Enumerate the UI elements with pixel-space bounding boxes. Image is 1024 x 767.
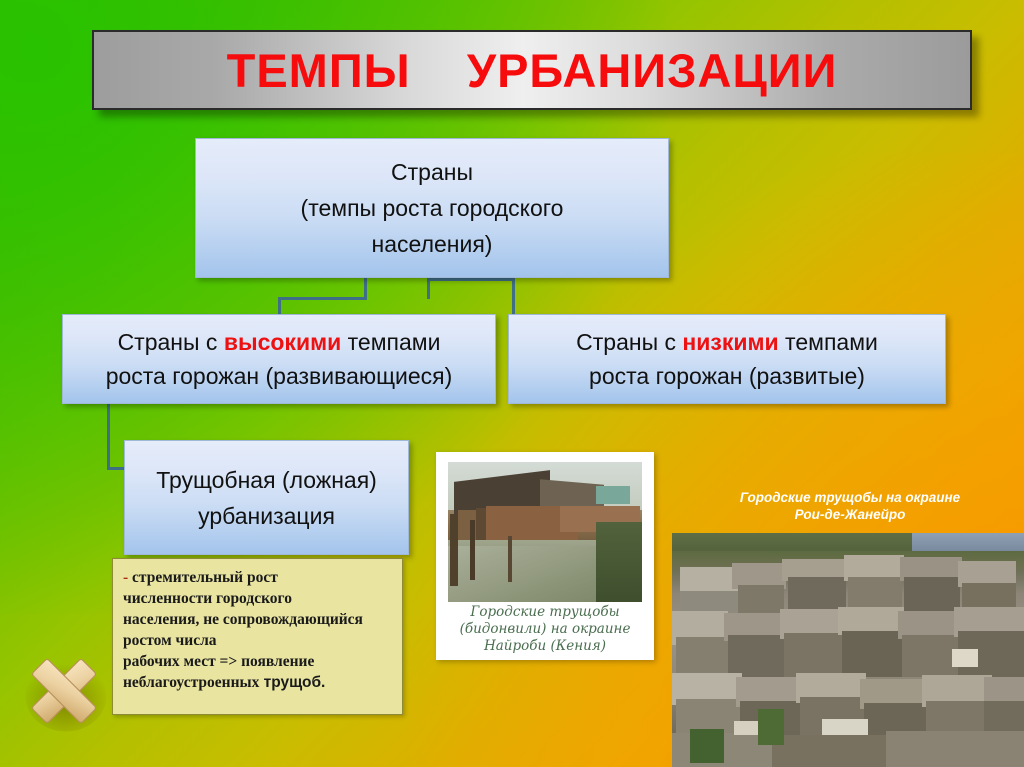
node-high-growth[interactable]: Страны с высокими темпами роста горожан …	[62, 314, 496, 404]
slide-canvas: ТЕМПЫ УРБАНИЗАЦИИ Страны (темпы роста го…	[0, 0, 1024, 767]
node-low-text-c: темпами	[779, 329, 878, 355]
node-high-keyword: высокими	[224, 329, 341, 355]
definition-line-2: численности городского	[123, 588, 396, 609]
node-low-keyword: низкими	[682, 329, 778, 355]
definition-line-6: неблагоустроенных трущоб.	[123, 672, 396, 693]
connector-left-down	[278, 297, 281, 315]
node-high-text-c: темпами	[341, 329, 440, 355]
connector-slum-down	[107, 404, 110, 470]
definition-line-1: - стремительный рост	[123, 567, 396, 588]
node-root-line2: (темпы роста городского	[196, 190, 668, 226]
node-slum-urbanization[interactable]: Трущобная (ложная) урбанизация	[124, 440, 409, 555]
nairobi-caption-line-3: Найроби (Кения)	[436, 638, 654, 655]
cross-icon	[18, 645, 110, 737]
definition-callout: - стремительный рост численности городск…	[112, 558, 403, 715]
photo-rio-caption: Городские трущобы на окраине Рои-де-Жане…	[700, 489, 1000, 523]
photo-card-nairobi: Городские трущобы (бидонвили) на окраине…	[436, 452, 654, 660]
page-title: ТЕМПЫ УРБАНИЗАЦИИ	[227, 47, 838, 94]
node-root-line3: населения)	[196, 226, 668, 262]
node-high-line1: Страны с высокими темпами	[63, 325, 495, 359]
nairobi-caption-line-2: (бидонвили) на окраине	[436, 621, 654, 638]
photo-nairobi-slums	[448, 462, 642, 602]
node-root-line1: Страны	[196, 154, 668, 190]
rio-caption-line-2: Рои-де-Жанейро	[700, 506, 1000, 523]
definition-line-5: рабочих мест => появление	[123, 651, 396, 672]
rio-caption-line-1: Городские трущобы на окраине	[700, 489, 1000, 506]
photo-rio-favela	[672, 533, 1024, 767]
connector-root-right-stub	[427, 278, 430, 299]
connector-right-horizontal	[427, 278, 515, 281]
slide-title-banner: ТЕМПЫ УРБАНИЗАЦИИ	[92, 30, 972, 110]
node-low-growth[interactable]: Страны с низкими темпами роста горожан (…	[508, 314, 946, 404]
node-low-line2: роста горожан (развитые)	[509, 359, 945, 393]
node-slum-line1: Трущобная (ложная)	[125, 462, 408, 498]
node-countries-root[interactable]: Страны (темпы роста городского населения…	[195, 138, 669, 278]
definition-line-6-tail: трущоб.	[259, 674, 325, 691]
connector-right-down	[512, 278, 515, 315]
node-low-line1: Страны с низкими темпами	[509, 325, 945, 359]
node-high-line2: роста горожан (развивающиеся)	[63, 359, 495, 393]
node-high-text-a: Страны с	[118, 329, 224, 355]
definition-line-4: ростом числа	[123, 630, 396, 651]
node-low-text-a: Страны с	[576, 329, 682, 355]
node-slum-line2: урбанизация	[125, 498, 408, 534]
definition-line-6-text: неблагоустроенных	[123, 674, 259, 691]
definition-line-1-text: стремительный рост	[128, 569, 278, 586]
photo-nairobi-caption: Городские трущобы (бидонвили) на окраине…	[436, 604, 654, 655]
connector-root-left-stub	[364, 278, 367, 299]
nairobi-caption-line-1: Городские трущобы	[436, 604, 654, 621]
definition-line-3: населения, не сопровождающийся	[123, 609, 396, 630]
connector-left-horizontal	[278, 297, 367, 300]
